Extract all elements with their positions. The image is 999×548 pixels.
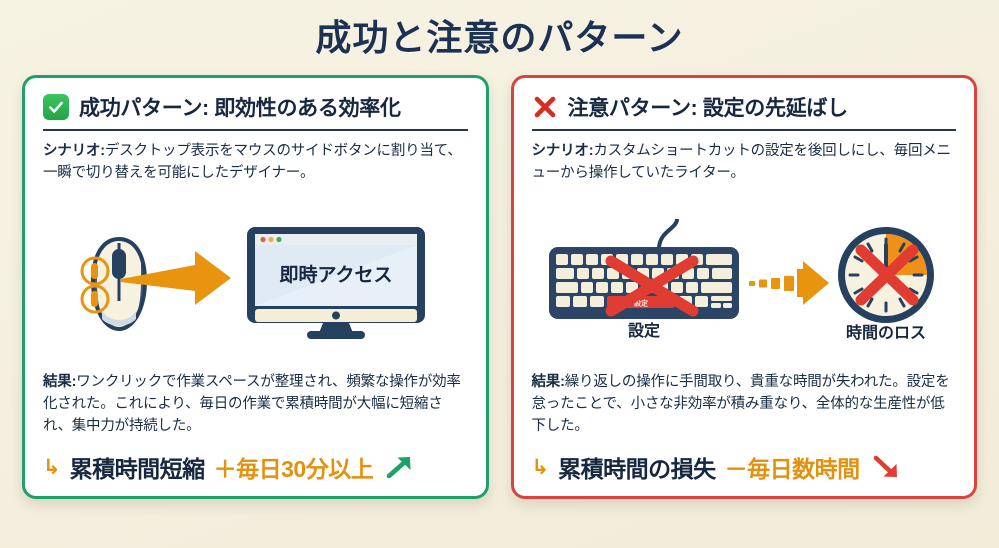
success-pattern-card: 成功パターン: 即効性のある効率化 シナリオ:デスクトップ表示をマウスのサイドボ… [22, 75, 489, 499]
arrow-up-right-icon [384, 453, 414, 481]
clock-caption: 時間のロス [846, 323, 926, 341]
arrow-down-right-icon [871, 453, 901, 481]
caution-card-header: 注意パターン: 設定の先延ばし [532, 92, 957, 129]
page-title: 成功と注意のパターン [0, 0, 999, 59]
success-scenario-text: デスクトップ表示をマウスのサイドボタンに割り当て、一瞬で切り替えを可能にしたデザ… [43, 143, 462, 181]
success-result-text: ワンクリックで作業スペースが整理され、頻繁な操作が効率化された。これにより、毎日… [43, 374, 461, 434]
caution-header-divider [532, 129, 957, 131]
success-header-divider [43, 129, 468, 131]
success-card-title: 成功パターン: 即効性のある効率化 [79, 92, 401, 122]
caution-scenario-label: シナリオ: [532, 143, 594, 159]
caution-stat-value: －毎日数時間 [725, 450, 860, 484]
caution-scenario: シナリオ:カスタムショートカットの設定を後回しにし、毎回メニューから操作していた… [532, 140, 957, 184]
caution-pattern-card: 注意パターン: 設定の先延ばし シナリオ:カスタムショートカットの設定を後回しに… [511, 75, 978, 499]
keyboard-to-clock-illustration: 設定 設定 [532, 188, 957, 369]
caution-scenario-text: カスタムショートカットの設定を後回しにし、毎回メニューから操作していたライター。 [532, 143, 951, 181]
success-stat-value: ＋毎日30分以上 [214, 450, 374, 484]
dashed-orange-arrow-icon [749, 261, 829, 305]
success-card-header: 成功パターン: 即効性のある効率化 [43, 92, 468, 129]
stat-hook-icon: ↳ [532, 457, 550, 478]
caution-stat-label: 累積時間の損失 [558, 450, 716, 484]
caution-result-text: 繰り返しの操作に手間取り、貴重な時間が失われた。設定を怠ったことで、小さな非効率… [532, 374, 950, 434]
caution-result-label: 結果: [532, 374, 565, 390]
monitor-screen-text: 即時アクセス [280, 264, 393, 286]
success-stat-label: 累積時間短縮 [70, 450, 205, 484]
mouse-to-monitor-illustration: 即時アクセス [43, 188, 468, 369]
clock-icon [838, 227, 934, 323]
caution-stat-row: ↳ 累積時間の損失 －毎日数時間 [532, 447, 957, 484]
caution-result: 結果:繰り返しの操作に手間取り、貴重な時間が失われた。設定を怠ったことで、小さな… [532, 371, 957, 437]
keyboard-icon: 設定 [549, 219, 739, 319]
success-scenario: シナリオ:デスクトップ表示をマウスのサイドボタンに割り当て、一瞬で切り替えを可能… [43, 140, 468, 184]
caution-card-title: 注意パターン: 設定の先延ばし [568, 92, 848, 122]
red-x-icon [532, 94, 558, 120]
check-badge-icon [43, 94, 69, 120]
cards-row: 成功パターン: 即効性のある効率化 シナリオ:デスクトップ表示をマウスのサイドボ… [0, 59, 999, 499]
success-scenario-label: シナリオ: [43, 143, 105, 159]
monitor-icon: 即時アクセス [247, 227, 425, 339]
keyboard-caption: 設定 [628, 321, 660, 340]
success-result: 結果:ワンクリックで作業スペースが整理され、頻繁な操作が効率化された。これにより… [43, 371, 468, 437]
success-stat-row: ↳ 累積時間短縮 ＋毎日30分以上 [43, 447, 468, 484]
success-result-label: 結果: [43, 374, 76, 390]
stat-hook-icon: ↳ [43, 457, 61, 478]
